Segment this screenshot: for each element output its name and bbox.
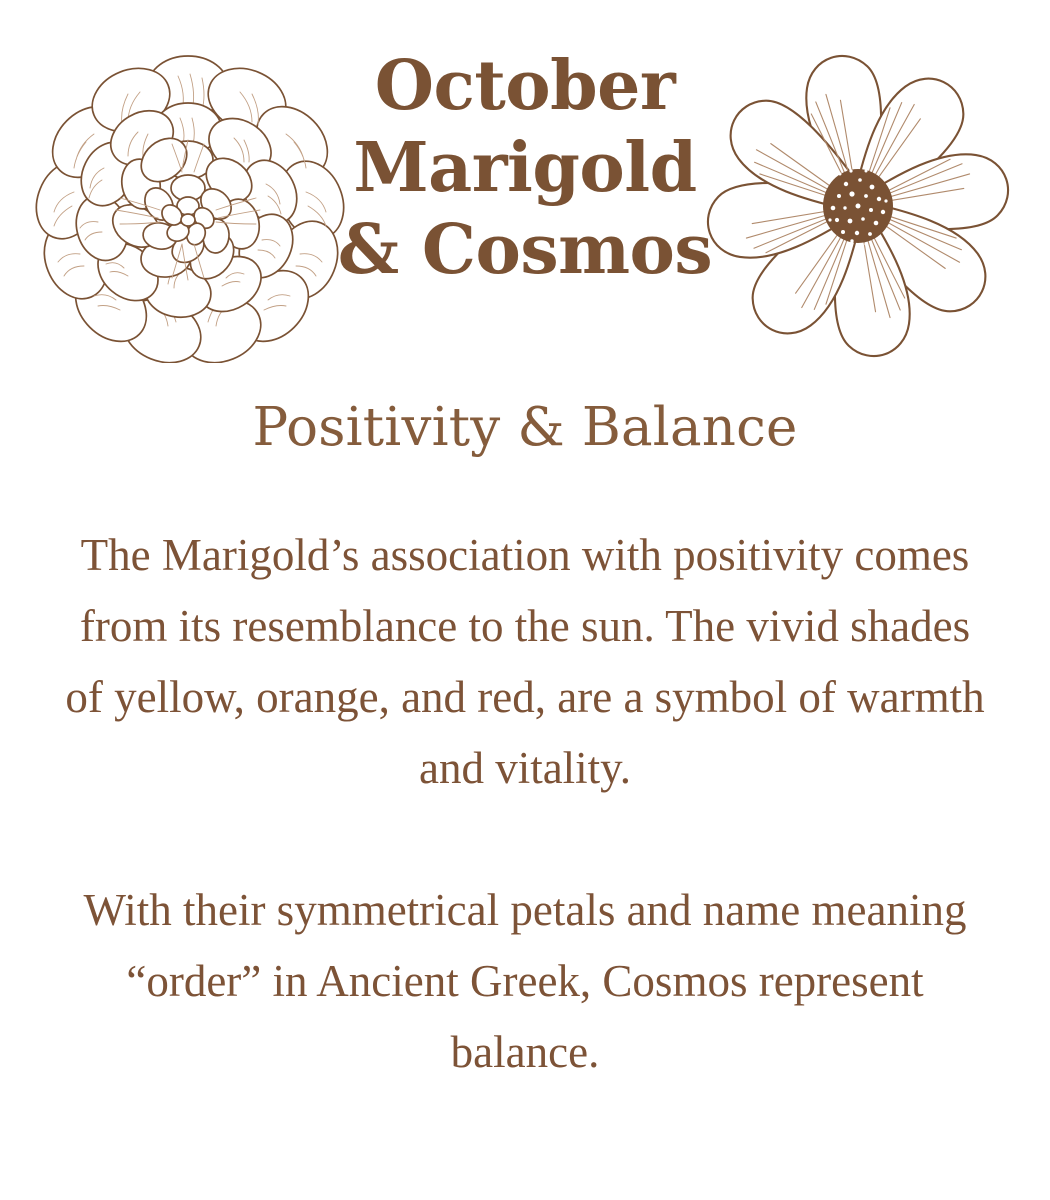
body-paragraph-1: The Marigold’s association with positivi…: [60, 520, 990, 804]
flower-of-the-month-card: October Marigold & Cosmos Positivity & B…: [0, 0, 1050, 1200]
marigold-illustration: [28, 48, 348, 363]
body-paragraph-2: With their symmetrical petals and name m…: [60, 875, 990, 1088]
card-header: October Marigold & Cosmos: [0, 0, 1050, 385]
cosmos-illustration: [700, 38, 1010, 373]
subtitle: Positivity & Balance: [0, 398, 1050, 459]
body-copy: The Marigold’s association with positivi…: [60, 520, 990, 1088]
paragraph-spacer: [60, 804, 990, 875]
